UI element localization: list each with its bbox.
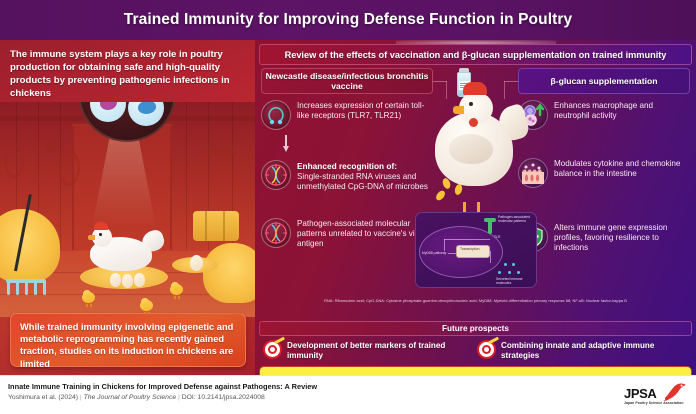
- journal-name: The Journal of Poultry Science: [84, 394, 177, 401]
- barn-illustration: [0, 102, 255, 317]
- future-prospects-heading: Future prospects: [442, 324, 509, 333]
- bglucan-item-2: Modulates cytokine and chemokine balance…: [518, 158, 690, 188]
- cell-signaling-diagram: Pathogen-associated molecular patterns T…: [415, 212, 537, 288]
- center-stage: Pathogen-associated molecular patterns T…: [433, 66, 519, 301]
- vaccine-heading-text: Newcastle disease/infectious bronchitis …: [262, 71, 432, 92]
- conclusion-banner: Vaccination and β-glucan supplementation…: [259, 366, 692, 375]
- vaccine-item-2-lead: Enhanced recognition of:: [297, 161, 397, 171]
- chick-1: [82, 290, 95, 305]
- vaccine-item-2-text: Single-stranded RNA viruses and unmethyl…: [297, 172, 428, 191]
- title-bar: Trained Immunity for Improving Defense F…: [0, 0, 696, 40]
- authors: Yoshimura et al. (2024): [8, 394, 78, 401]
- hen-illustration: [86, 227, 160, 273]
- left-highlight-box: While trained immunity involving epigene…: [10, 313, 246, 367]
- hay-bale: [193, 211, 239, 241]
- jpsa-logo: JPSA Japan Poultry Science Association: [622, 381, 688, 411]
- dna-target-icon: [261, 160, 291, 190]
- future-prospects-header: Future prospects: [259, 321, 692, 336]
- chick-2: [140, 298, 153, 313]
- myd88-label: MyD88 pathway: [422, 251, 446, 255]
- vaccine-item-1: Increases expression of certain toll-lik…: [261, 100, 433, 130]
- article-title: Innate Immune Training in Chickens for I…: [8, 382, 317, 391]
- left-intro-text: The immune system plays a key role in po…: [10, 48, 248, 100]
- vaccine-item-3: Pathogen-associated molecular patterns u…: [261, 218, 433, 249]
- doi: DOI: 10.2141/jpsa.2024008: [182, 394, 265, 401]
- future-prospect-2-text: Combining innate and adaptive immune str…: [501, 340, 677, 361]
- pamp-label: Pathogen-associated molecular patterns: [498, 215, 536, 223]
- vaccine-item-2-block: Enhanced recognition of: Single-stranded…: [297, 160, 433, 192]
- citation-meta: Yoshimura et al. (2024) | The Journal of…: [8, 394, 265, 401]
- immune-cell-blue: [128, 102, 164, 126]
- bglucan-item-2-text: Modulates cytokine and chemokine balance…: [554, 158, 690, 179]
- transcription-label: Transcription: [460, 247, 479, 251]
- haystack-left: [0, 209, 60, 283]
- intestine-epithelium-icon: [518, 158, 548, 188]
- toll-like-receptor-icon: [261, 100, 291, 130]
- separator-1: |: [80, 394, 82, 401]
- flow-arrow-1: [282, 135, 289, 153]
- abbreviation-footnote: RNA: Ribonucleic acid; CpG-DNA: Cytosine…: [263, 298, 688, 303]
- chick-3: [170, 282, 183, 297]
- logo-acronym: JPSA: [624, 386, 656, 401]
- footer: Innate Immune Training in Chickens for I…: [0, 375, 696, 414]
- haystack-right: [203, 243, 255, 303]
- future-prospect-1: Development of better markers of trained…: [263, 340, 463, 361]
- bglucan-item-1: Enhances macrophage and neutrophil activ…: [518, 100, 690, 130]
- bglucan-heading-text: β-glucan supplementation: [551, 76, 658, 87]
- left-highlight-text: While trained immunity involving epigene…: [20, 322, 233, 369]
- main-header-bar: Review of the effects of vaccination and…: [259, 44, 692, 65]
- immune-cell-lightblue: [90, 102, 126, 122]
- bglucan-item-3: Alters immune gene expression profiles, …: [518, 222, 690, 253]
- dna-target-icon: [261, 218, 291, 248]
- target-dart-icon: [477, 340, 496, 359]
- vaccine-item-2: Enhanced recognition of: Single-stranded…: [261, 160, 433, 192]
- bglucan-item-3-text: Alters immune gene expression profiles, …: [554, 222, 690, 253]
- future-prospect-1-text: Development of better markers of trained…: [287, 340, 463, 361]
- jpsa-bird-logo: [662, 382, 688, 402]
- bglucan-column-heading: β-glucan supplementation: [518, 68, 690, 94]
- bglucan-item-1-text: Enhances macrophage and neutrophil activ…: [554, 100, 690, 121]
- main-header-text: Review of the effects of vaccination and…: [285, 50, 667, 60]
- infographic-root: Trained Immunity for Improving Defense F…: [0, 0, 696, 414]
- main-panel: Review of the effects of vaccination and…: [255, 40, 696, 375]
- page-title: Trained Immunity for Improving Defense F…: [124, 11, 572, 29]
- vaccine-item-1-text: Increases expression of certain toll-lik…: [297, 100, 433, 121]
- left-panel: The immune system plays a key role in po…: [0, 40, 255, 375]
- vaccine-item-3-text: Pathogen-associated molecular patterns u…: [297, 218, 433, 249]
- tlr-label: TLR: [494, 235, 500, 239]
- chicken-illustration: [429, 96, 521, 204]
- vaccine-column-heading: Newcastle disease/infectious bronchitis …: [261, 68, 433, 94]
- secreted-molecules-label: Secreted immune molecules: [496, 277, 534, 285]
- separator-2: |: [178, 394, 180, 401]
- future-prospect-2: Combining innate and adaptive immune str…: [477, 340, 677, 361]
- target-dart-icon: [263, 340, 282, 359]
